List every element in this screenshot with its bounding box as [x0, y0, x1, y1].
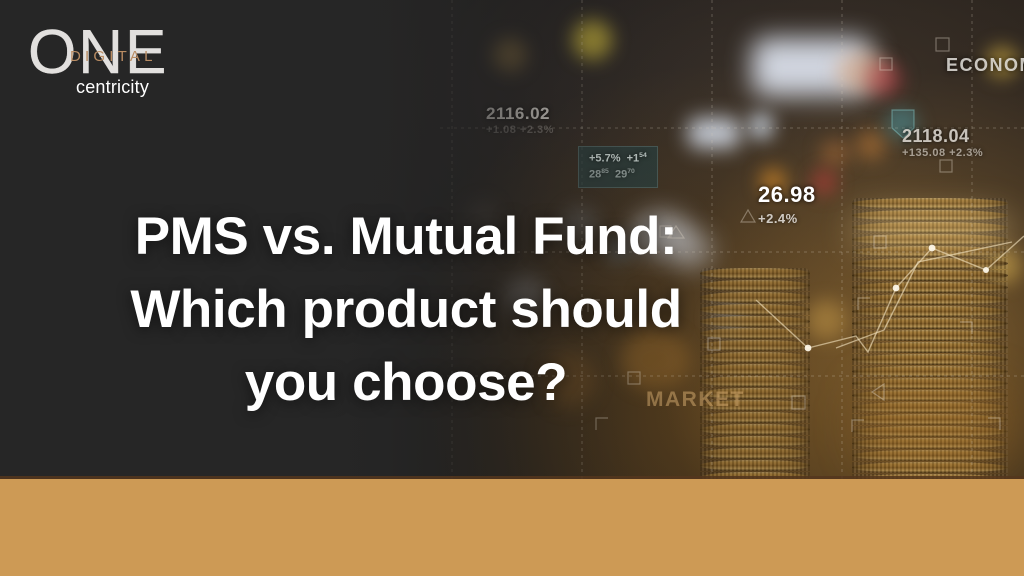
brand-logo[interactable]: ONE DIGITAL centricity: [28, 22, 178, 100]
slide-canvas: 2116.02 +1.08 +2.3% 2118.04 +135.08 +2.3…: [0, 0, 1024, 576]
coin-stack-front: [852, 198, 1008, 479]
headline-line-3: you choose?: [48, 346, 764, 419]
logo-digital-text: DIGITAL: [70, 49, 157, 64]
headline-line-1: PMS vs. Mutual Fund:: [48, 200, 764, 273]
page-title: PMS vs. Mutual Fund: Which product shoul…: [48, 200, 764, 419]
logo-centricity-text: centricity: [76, 78, 149, 96]
bottom-accent-band: [0, 479, 1024, 576]
headline-line-2: Which product should: [48, 273, 764, 346]
